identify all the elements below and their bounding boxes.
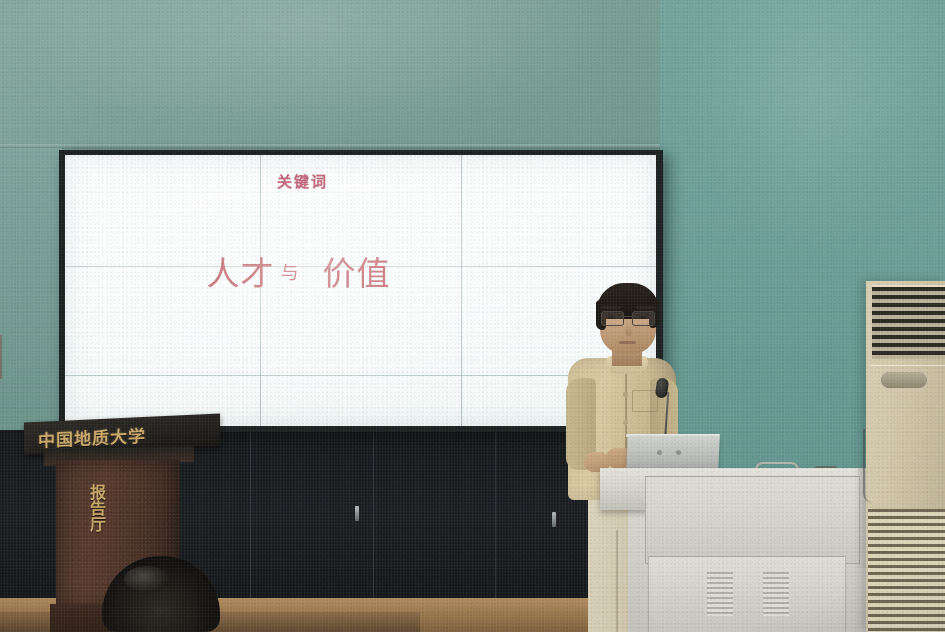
slide-main-text: 人才与价值 [65,247,594,295]
ac-brand-badge [880,371,928,389]
monument-hall-name: 报告厅 [82,484,110,532]
wall-ledge-trim [0,144,672,149]
wall-right-sheen [660,0,945,300]
lectern-base-panel [648,556,846,632]
air-conditioner [866,281,945,632]
speaker-glasses [601,311,655,324]
lectern-vent-left [707,572,733,616]
slide-conjunction: 与 [281,263,299,284]
panel-latch [355,506,359,521]
slide-term-talent: 人才 [207,254,275,293]
lecture-hall-photo: 关键词 人才与价值 中国地质大学 报告厅 [0,0,945,632]
speaker-shirt-pocket [632,390,658,412]
ac-top-louver-grille [872,285,945,359]
laptop[interactable] [626,436,720,470]
ac-intake-grille [868,509,945,632]
slide-heading-keywords: 关键词 [65,171,598,192]
panel-latch [552,512,556,527]
speaker-leg-seam [616,530,618,632]
lectern-front-panel [645,476,860,564]
wall-utility-panel [0,335,2,379]
wall-light-sheen [0,0,672,150]
lectern-vent-right [763,572,789,616]
wall-left-column [0,148,62,448]
ac-cable [863,429,873,503]
speaker-mouth [619,341,636,344]
slide-term-value: 价值 [323,254,391,293]
speaker-nose [625,325,632,336]
